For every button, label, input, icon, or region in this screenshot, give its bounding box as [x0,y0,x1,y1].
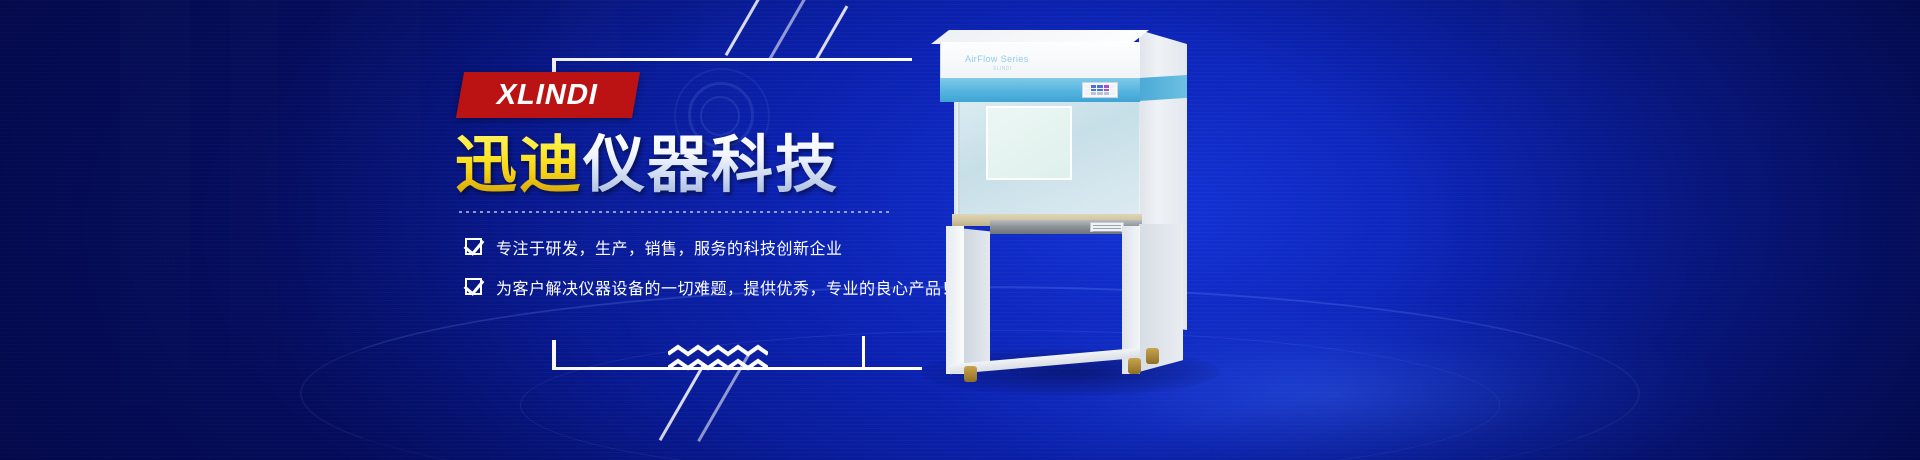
title-silver-part: 仪器科技 [583,128,839,201]
brand-logo-text: XLINDI [494,79,602,112]
list-item-label: 为客户解决仪器设备的一切难题，提供优秀，专业的良心产品！ [496,275,958,299]
zigzag-wave-icon [668,344,768,376]
caster-wheel [1128,358,1141,374]
spec-label [1090,222,1124,232]
checkbox-check-icon [465,278,482,295]
decor-frame-bottom [552,340,922,378]
product-image-laminar-flow-cabinet: AirFlow Series XLINDI [930,18,1220,400]
glass-inner-reflection [986,106,1072,180]
dotted-divider [459,211,889,213]
caster-wheel [1146,348,1159,364]
control-panel [1082,82,1118,98]
diagonal-slash-icon [725,0,763,56]
list-item-label: 专注于研发，生产，销售，服务的科技创新企业 [496,235,843,259]
checkbox-check-icon [465,238,482,255]
banner-content: XLINDI 迅迪仪器科技 专注于研发，生产，销售，服务的科技创新企业 为客户解… [455,72,975,315]
diagonal-slash-icon [769,0,811,60]
promotional-banner: XLINDI 迅迪仪器科技 专注于研发，生产，销售，服务的科技创新企业 为客户解… [0,0,1920,460]
title-gold-part: 迅迪 [455,128,583,201]
cabinet-back-leg [964,229,990,368]
diagonal-slash-icon [659,365,705,441]
cabinet-blue-band-side [1139,75,1187,101]
list-item: 为客户解决仪器设备的一切难题，提供优秀，专业的良心产品！ [465,275,975,299]
bullet-list: 专注于研发，生产，销售，服务的科技创新企业 为客户解决仪器设备的一切难题，提供优… [465,235,975,299]
diagonal-slash-icon [697,354,750,442]
page-title: 迅迪仪器科技 [455,132,975,199]
glass-work-chamber [958,102,1140,220]
diagonal-slash-icon [815,5,849,60]
control-panel-buttons [1085,85,1115,95]
list-item: 专注于研发，生产，销售，服务的科技创新企业 [465,235,975,259]
brand-logo-badge: XLINDI [456,72,640,118]
cabinet-left-leg [946,226,964,374]
caster-wheel [964,366,977,382]
product-brand-subtext: XLINDI [993,66,1012,72]
product-brand-text: AirFlow Series [965,54,1029,64]
